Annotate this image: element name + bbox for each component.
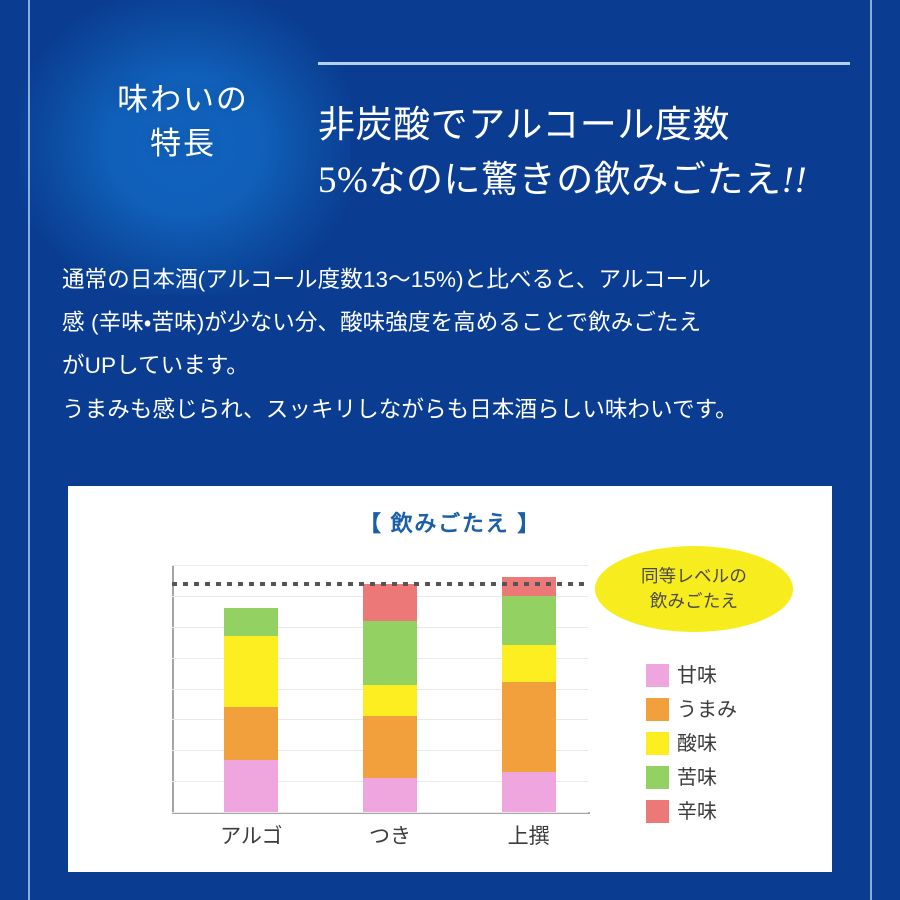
section-badge-line2: 特長 — [92, 122, 274, 166]
chart-title: 【 飲みごたえ 】 — [68, 506, 832, 538]
bar-segment-辛味 — [363, 584, 417, 621]
body-paragraph-3: がUPしています。 — [62, 344, 852, 387]
x-label-上撰: 上撰 — [484, 820, 574, 850]
callout-line-2: 飲みごたえ — [650, 591, 738, 611]
legend-swatch-icon — [646, 698, 669, 721]
headline-line-2-text: 5%なのに驚きの飲みごたえ — [318, 160, 782, 201]
chart-x-labels: アルゴつき上撰 — [172, 820, 588, 860]
section-badge-line1: 味わいの — [92, 78, 274, 122]
legend-item-甘味: 甘味 — [646, 664, 737, 687]
legend-label: 辛味 — [677, 802, 717, 822]
gridline — [172, 812, 588, 813]
bar-アルゴ — [224, 608, 278, 812]
headline-line-1: 非炭酸でアルコール度数 — [318, 99, 856, 154]
bar-segment-うまみ — [224, 707, 278, 759]
bar-segment-甘味 — [224, 760, 278, 812]
bar-segment-甘味 — [502, 772, 556, 812]
bar-segment-うまみ — [502, 682, 556, 772]
body-paragraph-1: 通常の日本酒(アルコール度数13〜15%)と比べると、アルコール — [62, 258, 852, 301]
callout-text: 同等レベルの 飲みごたえ — [641, 564, 747, 614]
bar-segment-辛味 — [502, 577, 556, 596]
headline-divider — [318, 62, 850, 65]
x-label-アルゴ: アルゴ — [206, 820, 296, 850]
bar-segment-苦味 — [224, 608, 278, 636]
legend-item-辛味: 辛味 — [646, 800, 737, 823]
legend-item-酸味: 酸味 — [646, 732, 737, 755]
left-border-rule — [28, 0, 30, 900]
legend-label: うまみ — [677, 700, 737, 720]
legend-swatch-icon — [646, 766, 669, 789]
right-border-rule — [870, 0, 872, 900]
equivalent-level-callout: 同等レベルの 飲みごたえ — [595, 546, 793, 632]
bar-上撰 — [502, 577, 556, 812]
chart-bars — [172, 565, 588, 812]
headline-line-2: 5%なのに驚きの飲みごたえ!! — [318, 154, 856, 209]
bar-segment-酸味 — [363, 685, 417, 716]
bar-segment-酸味 — [502, 645, 556, 682]
bar-segment-苦味 — [502, 596, 556, 645]
chart-panel: 【 飲みごたえ 】 アルゴつき上撰 同等レベルの 飲みごたえ 甘味うまみ酸味苦味… — [68, 486, 832, 872]
chart-reference-line — [172, 582, 588, 586]
legend-swatch-icon — [646, 732, 669, 755]
legend-label: 甘味 — [677, 666, 717, 686]
legend-label: 苦味 — [677, 768, 717, 788]
headline-block: 非炭酸でアルコール度数 5%なのに驚きの飲みごたえ!! — [318, 62, 856, 209]
body-copy: 通常の日本酒(アルコール度数13〜15%)と比べると、アルコール 感 (辛味・苦… — [62, 258, 852, 431]
legend-swatch-icon — [646, 664, 669, 687]
headline-exclamation: !! — [782, 160, 808, 201]
legend-item-うまみ: うまみ — [646, 698, 737, 721]
section-badge: 味わいの 特長 — [92, 78, 274, 166]
bar-segment-酸味 — [224, 636, 278, 707]
chart-legend: 甘味うまみ酸味苦味辛味 — [646, 664, 737, 834]
body-paragraph-4: うまみも感じられ、スッキリしながらも日本酒らしい味わいです。 — [62, 388, 852, 431]
legend-item-苦味: 苦味 — [646, 766, 737, 789]
chart-plot-area — [172, 565, 588, 812]
bar-segment-甘味 — [363, 778, 417, 812]
bar-segment-うまみ — [363, 716, 417, 778]
legend-swatch-icon — [646, 800, 669, 823]
callout-line-1: 同等レベルの — [641, 566, 747, 586]
bar-つき — [363, 584, 417, 812]
legend-label: 酸味 — [677, 734, 717, 754]
body-paragraph-2: 感 (辛味・苦味)が少ない分、酸味強度を高めることで飲みごたえ — [62, 301, 852, 344]
bar-segment-苦味 — [363, 621, 417, 686]
x-label-つき: つき — [345, 820, 435, 850]
